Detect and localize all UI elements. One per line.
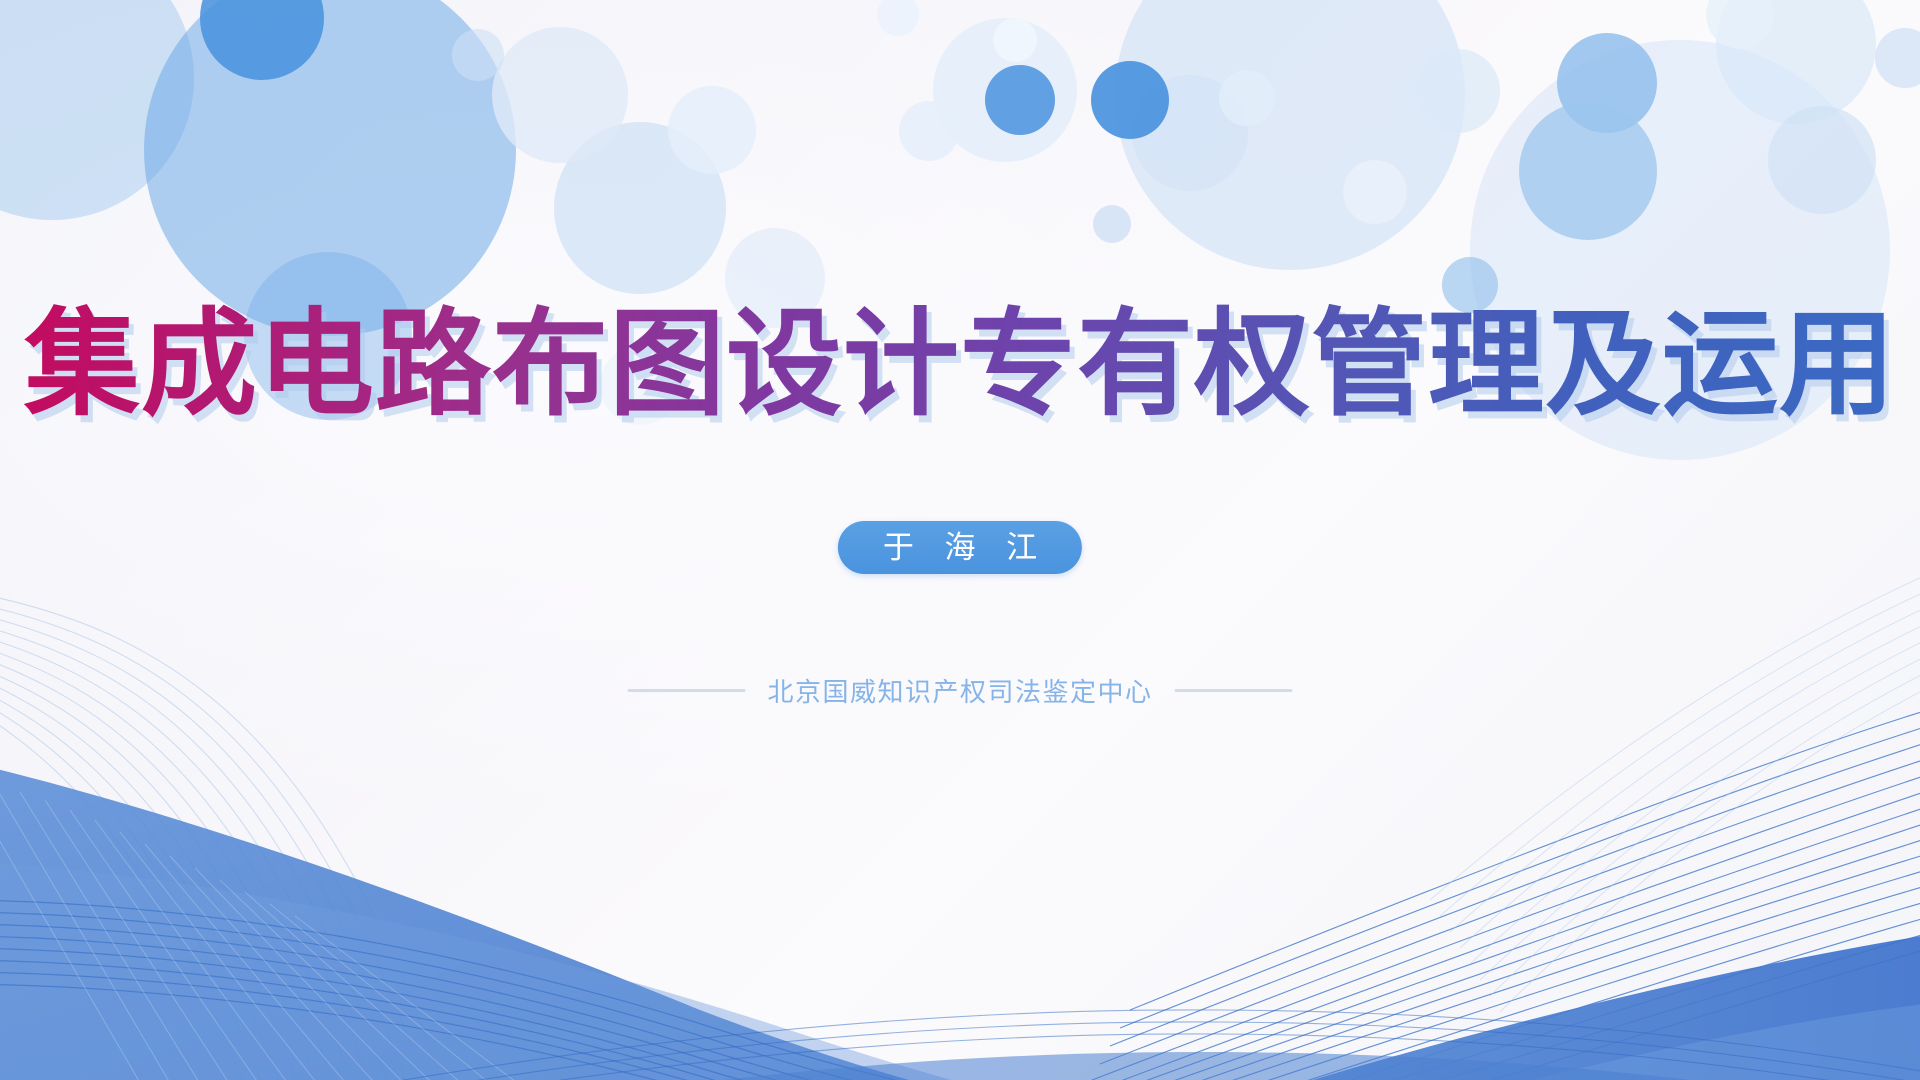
divider-rule-left: [627, 689, 745, 692]
divider-rule-right: [1175, 689, 1293, 692]
organization-name: 北京国威知识产权司法鉴定中心: [767, 672, 1152, 709]
title-slide: 集成电路布图设计专有权管理及运用 于 海 江 北京国威知识产权司法鉴定中心: [0, 0, 1920, 1080]
page-title: 集成电路布图设计专有权管理及运用: [0, 300, 1920, 430]
author-badge: 于 海 江: [838, 521, 1082, 574]
author-name: 于 海 江: [872, 532, 1048, 563]
slide-content: 集成电路布图设计专有权管理及运用 于 海 江 北京国威知识产权司法鉴定中心: [0, 0, 1920, 1080]
organization-row: 北京国威知识产权司法鉴定中心: [627, 672, 1292, 709]
